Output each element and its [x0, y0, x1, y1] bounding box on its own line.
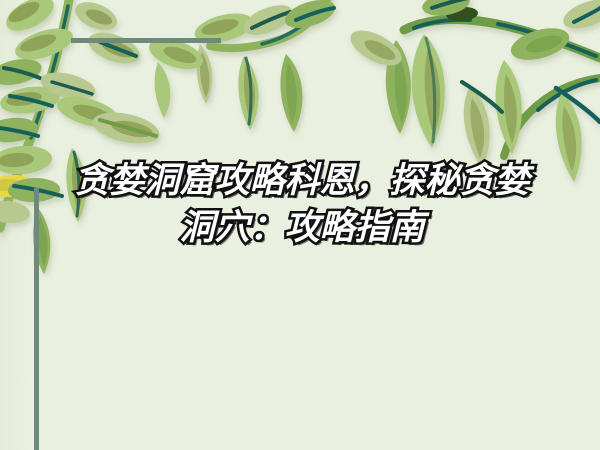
headline-block: 贪婪洞窟攻略科恩，探秘贪婪洞穴：攻略指南 — [72, 158, 532, 252]
cover-canvas: 贪婪洞窟攻略科恩，探秘贪婪洞穴：攻略指南 — [0, 0, 600, 450]
left-vertical-rule — [34, 188, 39, 450]
top-left-horizontal-rule — [71, 38, 221, 43]
background-edge-wash — [0, 0, 30, 450]
page-title: 贪婪洞窟攻略科恩，探秘贪婪洞穴：攻略指南 — [72, 158, 532, 252]
top-center-branch — [145, 0, 338, 132]
top-right-branch — [345, 0, 600, 182]
